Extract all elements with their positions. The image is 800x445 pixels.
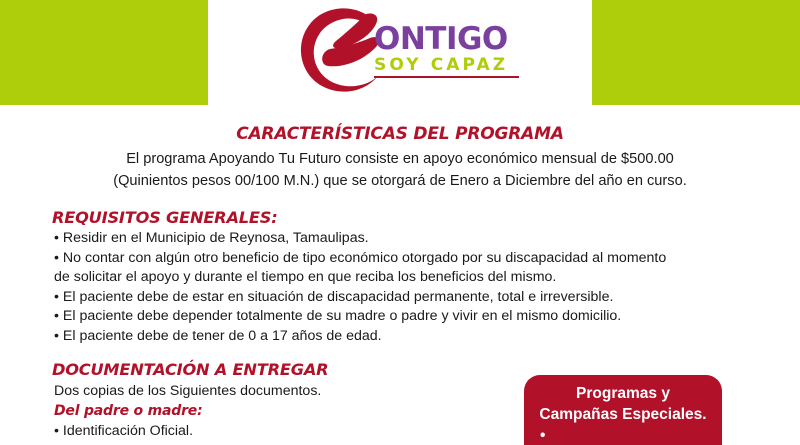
callout-line-3-clipped: • [530,425,716,445]
logo-underline [374,76,519,78]
requisitos-line: de solicitar el apoyo y durante el tiemp… [54,268,754,288]
documentacion-intro: Dos copias de los Siguientes documentos. [54,382,321,402]
programas-campanas-callout: Programas y Campañas Especiales. • [524,375,722,445]
caracteristicas-line: El programa Apoyando Tu Futuro consiste … [0,149,800,171]
header-green-block-right [592,0,800,105]
poster-page: ONTIGO SOY CAPAZ CARACTERÍSTICAS DEL PRO… [0,0,800,445]
requisitos-line: • El paciente debe de tener de 0 a 17 añ… [54,327,754,347]
section-title-documentacion: DOCUMENTACIÓN A ENTREGAR [52,360,328,379]
logo: ONTIGO SOY CAPAZ [290,2,522,102]
documentacion-line: • Identificación Oficial. [54,422,494,442]
documentacion-body: • Identificación Oficial. [54,422,494,442]
callout-line-2: Campañas Especiales. [530,404,716,425]
header-green-block-left [0,0,208,105]
requisitos-line: • El paciente debe de estar en situación… [54,288,754,308]
requisitos-body: • Residir en el Municipio de Reynosa, Ta… [54,229,754,346]
requisitos-line: • No contar con algún otro beneficio de … [54,249,754,269]
logo-wordmark: ONTIGO SOY CAPAZ [374,24,522,78]
logo-word-contigo: ONTIGO [374,24,522,55]
requisitos-line: • Residir en el Municipio de Reynosa, Ta… [54,229,754,249]
logo-word-soy-capaz: SOY CAPAZ [374,55,522,75]
callout-line-1: Programas y [530,383,716,404]
documentacion-subtitle-padre-o-madre: Del padre o madre: [54,402,203,420]
caracteristicas-line: (Quinientos pesos 00/100 M.N.) que se ot… [0,171,800,193]
section-title-caracteristicas: CARACTERÍSTICAS DEL PROGRAMA [0,124,800,144]
requisitos-line: • El paciente debe depender totalmente d… [54,307,754,327]
section-title-requisitos: REQUISITOS GENERALES: [52,208,277,227]
caracteristicas-body: El programa Apoyando Tu Futuro consiste … [0,149,800,192]
